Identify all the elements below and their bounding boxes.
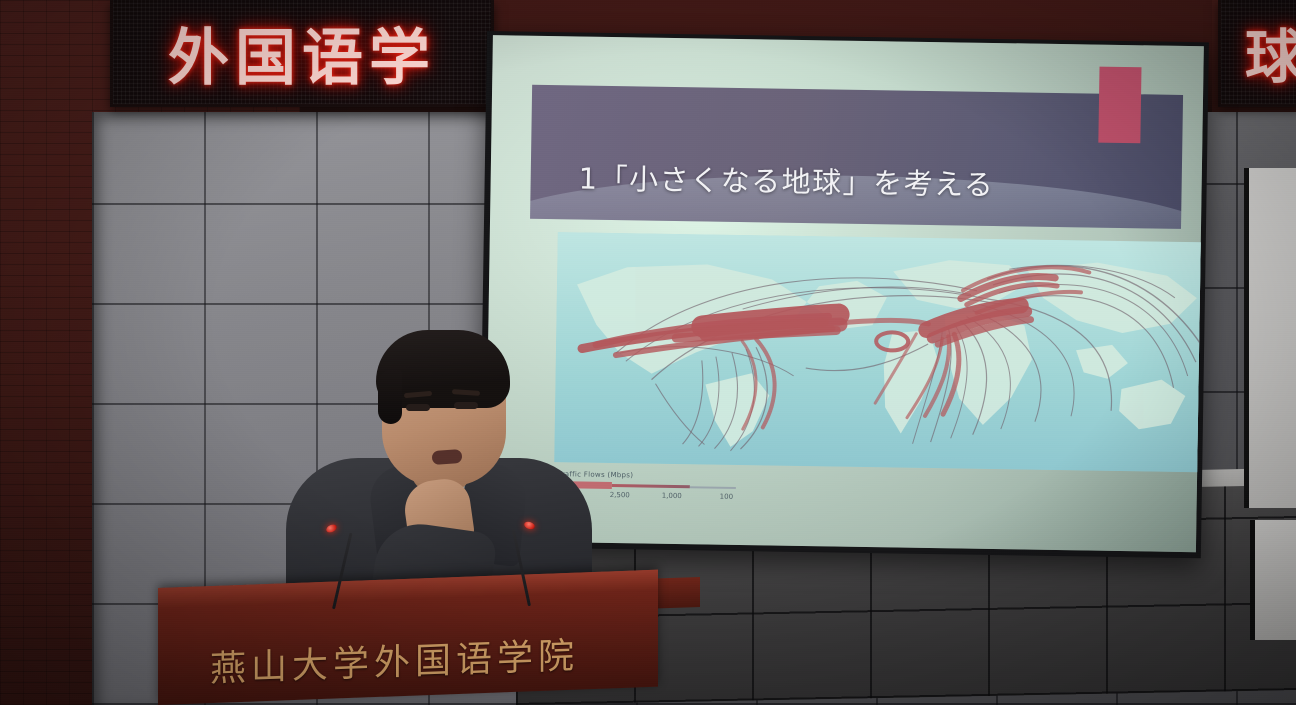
speaker-hair xyxy=(376,330,510,408)
legend-bar-mid xyxy=(612,484,690,488)
slide-title: 1「小さくなる地球」を考える xyxy=(578,155,994,204)
whiteboard-panel-lower xyxy=(1250,520,1296,640)
lecture-hall-scene: 外国语学 球 1「小さくなる地球」を考える xyxy=(0,0,1296,705)
podium-institution-text: 燕山大学外国语学院 xyxy=(210,627,579,693)
speaker-eye-right xyxy=(454,402,478,409)
legend-tick-100: 100 xyxy=(720,493,733,501)
whiteboard-panel xyxy=(1244,168,1296,508)
led-banner-right: 球 xyxy=(1218,0,1296,107)
led-banner-text-right: 球 xyxy=(1245,10,1296,94)
speaker-eye-left xyxy=(406,404,430,411)
world-traffic-map xyxy=(554,232,1204,472)
legend-tick-1000: 1,000 xyxy=(662,492,682,500)
slide-accent-rectangle xyxy=(1098,67,1141,144)
legend-tick-2500: 2,500 xyxy=(610,491,630,499)
slide-title-banner: 1「小さくなる地球」を考える xyxy=(530,85,1183,229)
world-map-svg xyxy=(554,232,1204,472)
presentation-slide: 1「小さくなる地球」を考える xyxy=(485,35,1204,552)
led-banner-text: 外国语学 xyxy=(168,8,436,97)
podium: 燕山大学外国语学院 xyxy=(158,570,658,705)
legend-bar-thin xyxy=(690,487,736,489)
speaker-mouth xyxy=(432,449,463,465)
led-banner-left: 外国语学 xyxy=(110,0,494,107)
